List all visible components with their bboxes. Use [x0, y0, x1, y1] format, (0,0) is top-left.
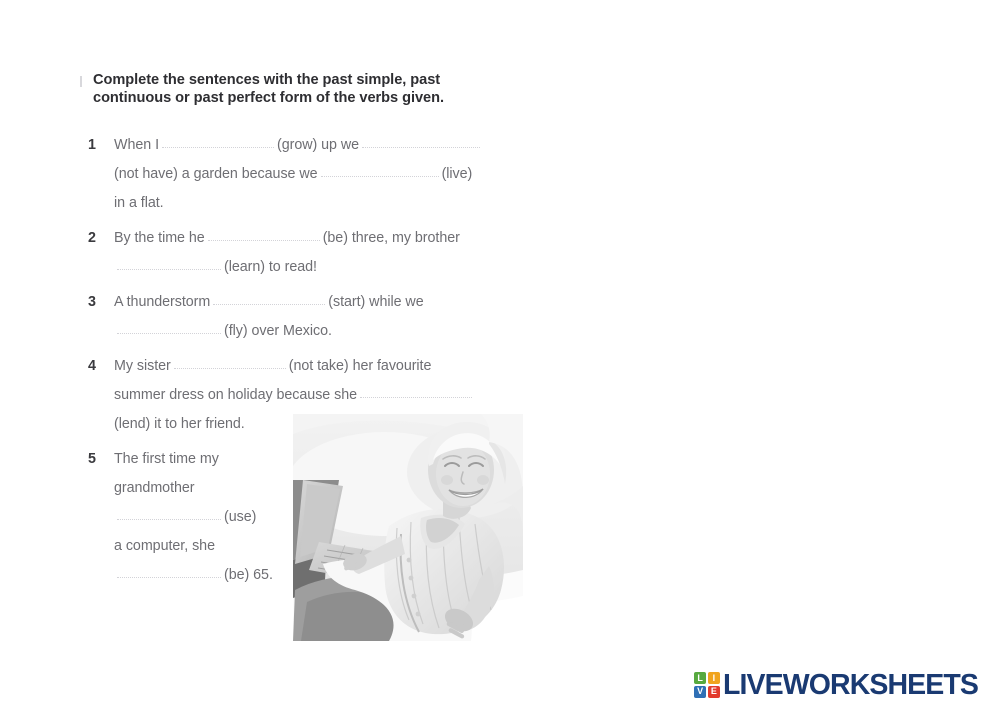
exercise-body: When I(grow) up we(not have) a garden be…	[114, 131, 528, 218]
logo-tile-v: V	[694, 686, 706, 698]
sentence-text: (start) while we	[328, 294, 423, 310]
answer-blank[interactable]	[117, 257, 221, 271]
answer-blank[interactable]	[208, 228, 320, 242]
exercise-number: 1	[88, 131, 106, 160]
answer-blank[interactable]	[174, 356, 286, 370]
sentence-text: A thunderstorm	[114, 294, 210, 310]
logo-tile-e: E	[708, 686, 720, 698]
exercise-item: 1When I(grow) up we(not have) a garden b…	[88, 131, 528, 218]
sentence-text: (be) three, my brother	[323, 230, 460, 246]
sentence-text: (use)	[224, 509, 256, 525]
sentence-text: The first time my	[114, 451, 219, 467]
exercise-line: When I(grow) up we	[114, 131, 528, 160]
answer-blank[interactable]	[360, 385, 472, 399]
sentence-text: a computer, she	[114, 538, 215, 554]
liveworksheets-logo-tiles: LIVE	[694, 672, 720, 698]
answer-blank[interactable]	[117, 565, 221, 579]
exercise-number: 2	[88, 224, 106, 253]
answer-blank[interactable]	[117, 507, 221, 521]
sentence-text: summer dress on holiday because she	[114, 387, 357, 403]
exercise-number: 4	[88, 352, 106, 381]
grandmother-laptop-photo	[293, 414, 523, 641]
exercise-line: in a flat.	[114, 189, 528, 218]
sentence-text: By the time he	[114, 230, 205, 246]
answer-blank[interactable]	[362, 135, 480, 149]
answer-blank[interactable]	[213, 292, 325, 306]
sentence-text: (live)	[442, 166, 473, 182]
sentence-text: (grow) up we	[277, 137, 359, 153]
exercise-number: 3	[88, 288, 106, 317]
liveworksheets-wordmark: LIVEWORKSHEETS	[723, 671, 978, 700]
exercise-item: 3A thunderstorm(start) while we(fly) ove…	[88, 288, 528, 346]
exercise-line: summer dress on holiday because she	[114, 381, 528, 410]
sentence-text: (not take) her favourite	[289, 358, 432, 374]
exercise-body: A thunderstorm(start) while we(fly) over…	[114, 288, 528, 346]
exercise-line: (not have) a garden because we(live)	[114, 160, 528, 189]
worksheet-page: Complete the sentences with the past sim…	[0, 0, 1000, 707]
exercise-line: My sister(not take) her favourite	[114, 352, 528, 381]
answer-blank[interactable]	[321, 164, 439, 178]
worksheet-instructions-heading: Complete the sentences with the past sim…	[93, 72, 513, 107]
sentence-text: (learn) to read!	[224, 259, 317, 275]
sentence-text: (not have) a garden because we	[114, 166, 318, 182]
exercise-number: 5	[88, 445, 106, 474]
exercise-item: 2By the time he(be) three, my brother(le…	[88, 224, 528, 282]
exercise-line: By the time he(be) three, my brother	[114, 224, 528, 253]
exercise-body: By the time he(be) three, my brother(lea…	[114, 224, 528, 282]
logo-tile-l: L	[694, 672, 706, 684]
sentence-text: (lend) it to her friend.	[114, 416, 245, 432]
logo-tile-i: I	[708, 672, 720, 684]
exercise-line: A thunderstorm(start) while we	[114, 288, 528, 317]
answer-blank[interactable]	[117, 321, 221, 335]
liveworksheets-logo[interactable]: LIVE LIVEWORKSHEETS	[694, 668, 978, 702]
sentence-text: When I	[114, 137, 159, 153]
exercise-line: (learn) to read!	[114, 253, 528, 282]
exercise-line: (fly) over Mexico.	[114, 317, 528, 346]
page-edge-mark	[80, 76, 82, 87]
sentence-text: My sister	[114, 358, 171, 374]
sentence-text: in a flat.	[114, 195, 164, 211]
sentence-text: grandmother	[114, 480, 195, 496]
sentence-text: (be) 65.	[224, 567, 273, 583]
sentence-text: (fly) over Mexico.	[224, 323, 332, 339]
answer-blank[interactable]	[162, 135, 274, 149]
